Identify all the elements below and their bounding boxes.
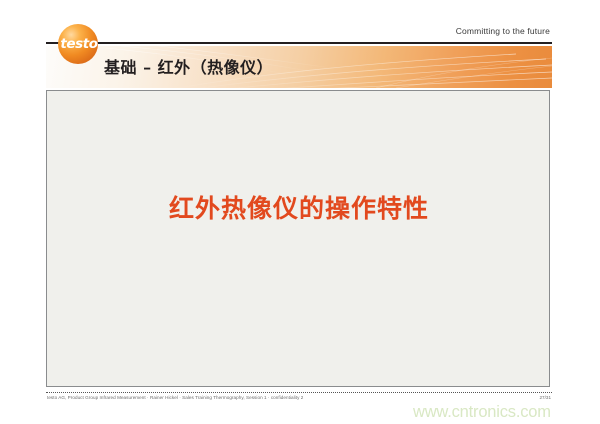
title-banner: 基础 – 红外（热像仪） xyxy=(46,46,552,88)
slide-title: 基础 – 红外（热像仪） xyxy=(104,54,273,78)
slide: Committing to the future testo xyxy=(38,22,560,410)
main-heading: 红外热像仪的操作特性 xyxy=(47,189,551,225)
company-tagline: Committing to the future xyxy=(456,26,550,36)
site-watermark: www.cntronics.com xyxy=(413,403,551,422)
footer-page-number: 27/31 xyxy=(540,395,552,400)
header-divider-rule xyxy=(46,42,552,44)
slide-header: Committing to the future xyxy=(38,22,560,48)
slide-content-panel: 红外热像仪的操作特性 xyxy=(46,90,550,387)
testo-logo: testo xyxy=(58,24,98,64)
footer-text: testo AG, Product Group Infrared Measure… xyxy=(47,395,303,400)
footer-separator xyxy=(46,392,552,393)
testo-logo-text: testo xyxy=(56,37,102,51)
